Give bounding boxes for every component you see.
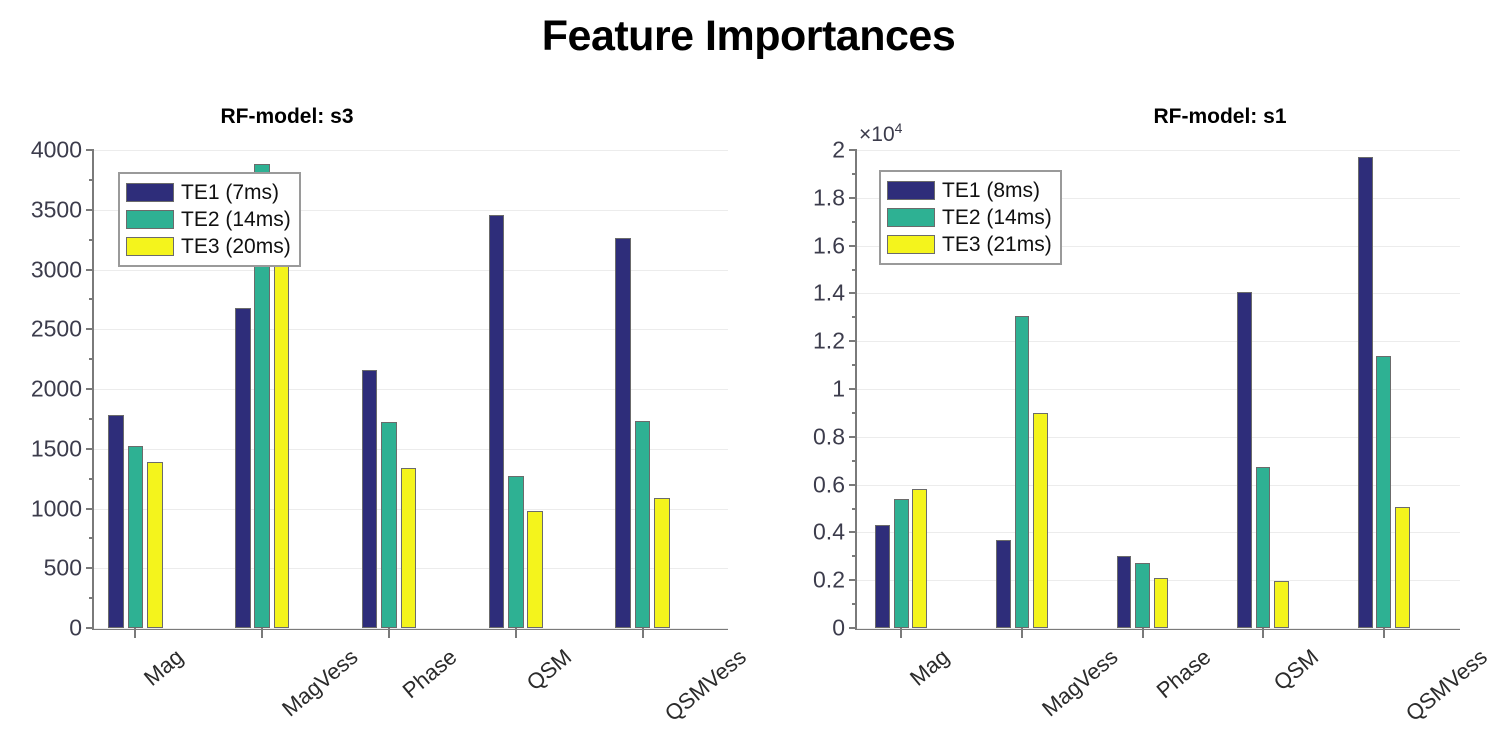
legend-item[interactable]: TE1 (7ms)	[126, 179, 291, 206]
y-tick-major	[86, 209, 94, 211]
y-tick-minor	[852, 364, 857, 366]
bar-left-QSM-2	[508, 476, 524, 628]
legend-label: TE2 (14ms)	[942, 206, 1052, 230]
legend-item[interactable]: TE2 (14ms)	[887, 204, 1052, 231]
y-tick-minor	[852, 269, 857, 271]
y-tick-major	[849, 484, 857, 486]
x-tick-label-MagVess: MagVess	[1037, 644, 1123, 722]
y-tick-label: 2	[832, 137, 845, 164]
y-tick-major	[86, 149, 94, 151]
y-tick-major	[849, 531, 857, 533]
legend-item[interactable]: TE1 (8ms)	[887, 177, 1052, 204]
y-tick-major	[86, 448, 94, 450]
x-tick-label-Phase: Phase	[398, 644, 463, 704]
legend-swatch-icon	[887, 235, 935, 254]
y-tick-minor	[89, 597, 94, 599]
y-tick-minor	[89, 418, 94, 420]
legend-swatch-icon	[887, 181, 935, 200]
x-tick	[1021, 628, 1023, 638]
y-tick-minor	[89, 478, 94, 480]
legend-item[interactable]: TE2 (14ms)	[126, 206, 291, 233]
subplot-right-title: RF-model: s1	[860, 105, 1497, 129]
bar-right-Mag-3	[912, 489, 927, 628]
gridline	[94, 329, 728, 330]
bar-left-Mag-1	[108, 415, 124, 628]
legend-right[interactable]: TE1 (8ms)TE2 (14ms)TE3 (21ms)	[879, 170, 1062, 265]
bar-right-Phase-1	[1117, 556, 1132, 628]
bar-right-QSM-3	[1274, 581, 1289, 628]
bar-right-Phase-3	[1154, 578, 1169, 628]
x-tick-label-Mag: Mag	[139, 644, 188, 691]
y-tick-minor	[89, 298, 94, 300]
bar-right-MagVess-3	[1033, 413, 1048, 628]
y-tick-major	[849, 340, 857, 342]
y-tick-minor	[852, 460, 857, 462]
gridline	[94, 449, 728, 450]
y-tick-major	[849, 292, 857, 294]
x-tick-label-Mag: Mag	[905, 644, 954, 691]
legend-label: TE2 (14ms)	[181, 208, 291, 232]
y-tick-label: 500	[44, 555, 82, 582]
x-tick-label-QSM: QSM	[522, 644, 577, 696]
y-axis-labels-left: 05001000150020002500300035004000	[2, 150, 82, 628]
x-tick	[388, 628, 390, 638]
bar-left-Mag-2	[128, 446, 144, 628]
bar-right-MagVess-1	[996, 540, 1011, 628]
y-tick-label: 1	[832, 376, 845, 403]
y-tick-major	[86, 627, 94, 629]
y-tick-major	[849, 388, 857, 390]
legend-swatch-icon	[887, 208, 935, 227]
y-tick-major	[849, 579, 857, 581]
plot-area-right: 00.20.40.60.811.21.41.61.82×104MagMagVes…	[855, 150, 1460, 630]
bar-left-MagVess-3	[274, 257, 290, 628]
gridline	[857, 628, 1460, 629]
y-tick-minor	[852, 316, 857, 318]
gridline	[94, 270, 728, 271]
legend-swatch-icon	[126, 210, 174, 229]
y-tick-label: 4000	[31, 137, 82, 164]
y-tick-minor	[852, 508, 857, 510]
y-tick-label: 3500	[31, 196, 82, 223]
y-tick-label: 1.4	[813, 280, 845, 307]
bar-left-MagVess-1	[235, 308, 251, 628]
y-tick-major	[849, 149, 857, 151]
x-tick-label-QSM: QSM	[1269, 644, 1324, 696]
legend-label: TE1 (7ms)	[181, 181, 279, 205]
bar-right-QSMVess-3	[1395, 507, 1410, 628]
legend-label: TE3 (21ms)	[942, 233, 1052, 257]
y-tick-label: 1.6	[813, 232, 845, 259]
bar-right-MagVess-2	[1015, 316, 1030, 628]
bar-left-QSMVess-1	[615, 238, 631, 628]
legend-label: TE3 (20ms)	[181, 235, 291, 259]
legend-swatch-icon	[126, 237, 174, 256]
legend-label: TE1 (8ms)	[942, 179, 1040, 203]
subplot-left-title: RF-model: s3	[0, 105, 658, 129]
y-axis-labels-right: 00.20.40.60.811.21.41.61.82	[765, 150, 845, 628]
y-tick-label: 0	[69, 615, 82, 642]
bar-right-QSM-1	[1237, 292, 1252, 628]
y-tick-minor	[852, 603, 857, 605]
y-tick-major	[86, 508, 94, 510]
y-tick-label: 2000	[31, 376, 82, 403]
bar-right-Phase-2	[1135, 563, 1150, 628]
gridline	[94, 628, 728, 629]
bar-left-Mag-3	[147, 462, 163, 628]
bar-left-QSMVess-2	[635, 421, 651, 628]
y-tick-minor	[89, 239, 94, 241]
y-tick-major	[86, 388, 94, 390]
bar-left-Phase-3	[401, 468, 417, 628]
y-tick-label: 2500	[31, 316, 82, 343]
y-tick-label: 0	[832, 615, 845, 642]
gridline	[94, 150, 728, 151]
y-tick-label: 0.8	[813, 423, 845, 450]
bar-left-QSM-3	[527, 511, 543, 628]
y-tick-label: 1000	[31, 495, 82, 522]
y-tick-minor	[89, 358, 94, 360]
bar-right-QSMVess-2	[1376, 356, 1391, 628]
legend-item[interactable]: TE3 (20ms)	[126, 233, 291, 260]
y-tick-minor	[852, 173, 857, 175]
x-tick	[1142, 628, 1144, 638]
x-tick-label-Phase: Phase	[1151, 644, 1216, 704]
x-tick	[1383, 628, 1385, 638]
x-tick	[1262, 628, 1264, 638]
y-tick-major	[86, 567, 94, 569]
bar-left-QSMVess-3	[654, 498, 670, 628]
y-tick-minor	[89, 179, 94, 181]
x-tick-label-MagVess: MagVess	[277, 644, 363, 722]
y-tick-label: 3000	[31, 256, 82, 283]
x-tick-label-QSMVess: QSMVess	[1401, 644, 1493, 727]
y-tick-label: 1500	[31, 435, 82, 462]
y-tick-minor	[852, 221, 857, 223]
gridline	[94, 389, 728, 390]
gridline	[857, 150, 1460, 151]
y-tick-major	[849, 245, 857, 247]
figure-title: Feature Importances	[0, 12, 1497, 61]
y-tick-label: 1.2	[813, 328, 845, 355]
bar-left-Phase-1	[362, 370, 378, 628]
x-tick	[642, 628, 644, 638]
y-axis-exponent: ×104	[859, 120, 902, 147]
y-tick-minor	[89, 537, 94, 539]
y-tick-minor	[852, 555, 857, 557]
y-tick-label: 0.4	[813, 519, 845, 546]
x-tick	[134, 628, 136, 638]
bar-right-Mag-2	[894, 499, 909, 628]
x-tick	[900, 628, 902, 638]
x-tick	[515, 628, 517, 638]
legend-item[interactable]: TE3 (21ms)	[887, 231, 1052, 258]
legend-swatch-icon	[126, 183, 174, 202]
bar-right-QSM-2	[1256, 467, 1271, 628]
y-tick-major	[849, 627, 857, 629]
bar-left-QSM-1	[489, 215, 505, 628]
bar-right-QSMVess-1	[1358, 157, 1373, 628]
x-tick-label-QSMVess: QSMVess	[659, 644, 751, 727]
legend-left[interactable]: TE1 (7ms)TE2 (14ms)TE3 (20ms)	[118, 172, 301, 267]
x-tick	[261, 628, 263, 638]
y-tick-major	[86, 328, 94, 330]
y-tick-minor	[852, 412, 857, 414]
y-tick-label: 0.2	[813, 567, 845, 594]
bar-right-Mag-1	[875, 525, 890, 628]
y-tick-major	[86, 269, 94, 271]
y-tick-label: 1.8	[813, 184, 845, 211]
bar-left-Phase-2	[381, 422, 397, 628]
plot-area-left: 05001000150020002500300035004000MagMagVe…	[92, 150, 728, 630]
y-tick-major	[849, 436, 857, 438]
y-tick-major	[849, 197, 857, 199]
y-tick-label: 0.6	[813, 471, 845, 498]
